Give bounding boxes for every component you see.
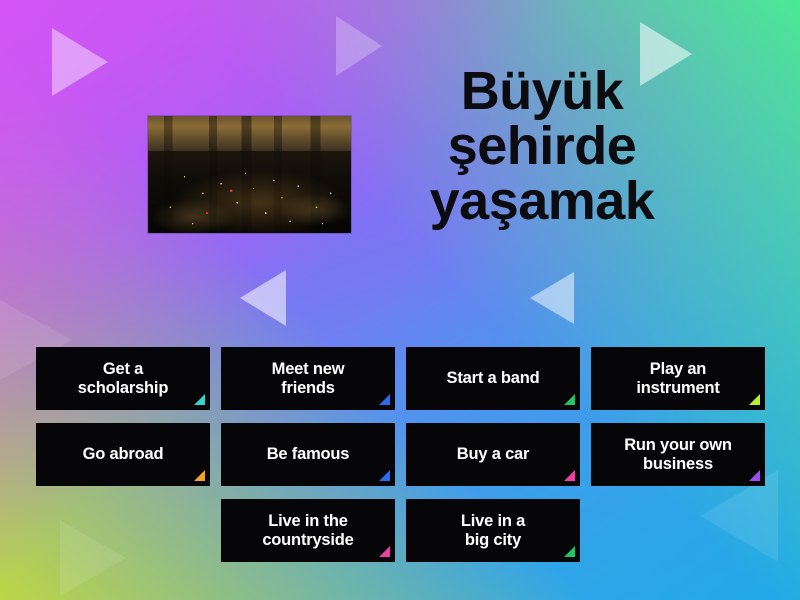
answer-tile-label: Go abroad: [83, 445, 164, 463]
tile-corner-marker-green: [564, 394, 575, 405]
answer-tile[interactable]: Run your own business: [591, 423, 765, 486]
tile-corner-marker-pink: [379, 546, 390, 557]
decor-triangle-8: [60, 520, 126, 596]
answer-tile-label: Buy a car: [457, 445, 530, 463]
city-lights-layer: [148, 116, 351, 233]
answer-tile[interactable]: Go abroad: [36, 423, 210, 486]
answer-tile-label: Meet new friends: [272, 360, 345, 397]
answer-tile[interactable]: Start a band: [406, 347, 580, 410]
tile-corner-marker-purple: [749, 470, 760, 481]
tile-corner-marker-orange: [194, 470, 205, 481]
answer-tile[interactable]: Play an instrument: [591, 347, 765, 410]
answer-tile[interactable]: Live in a big city: [406, 499, 580, 562]
decor-triangle-5: [530, 272, 574, 324]
tile-corner-marker-pink: [564, 470, 575, 481]
answer-tile[interactable]: Meet new friends: [221, 347, 395, 410]
answer-tile-label: Run your own business: [624, 436, 732, 473]
tile-corner-marker-blue: [379, 470, 390, 481]
decor-triangle-4: [240, 270, 286, 326]
answer-tile[interactable]: Get a scholarship: [36, 347, 210, 410]
answer-tile-label: Live in a big city: [461, 512, 525, 549]
tile-corner-marker-green: [564, 546, 575, 557]
answer-tile-label: Start a band: [447, 369, 540, 387]
tile-corner-marker-lime: [749, 394, 760, 405]
page-title: Büyük şehirde yaşamak: [372, 64, 712, 229]
activity-stage: Büyük şehirde yaşamak Get a scholarshipM…: [0, 0, 800, 600]
prompt-image: [148, 116, 351, 233]
answer-tile-label: Play an instrument: [636, 360, 719, 397]
answer-tile-label: Live in the countryside: [262, 512, 353, 549]
answer-tile[interactable]: Live in the countryside: [221, 499, 395, 562]
decor-triangle-1: [52, 28, 108, 96]
answer-tile[interactable]: Buy a car: [406, 423, 580, 486]
answer-tile-label: Get a scholarship: [78, 360, 168, 397]
answer-tile-label: Be famous: [267, 445, 350, 463]
tile-corner-marker-teal: [194, 394, 205, 405]
tile-corner-marker-blue: [379, 394, 390, 405]
answer-tile[interactable]: Be famous: [221, 423, 395, 486]
